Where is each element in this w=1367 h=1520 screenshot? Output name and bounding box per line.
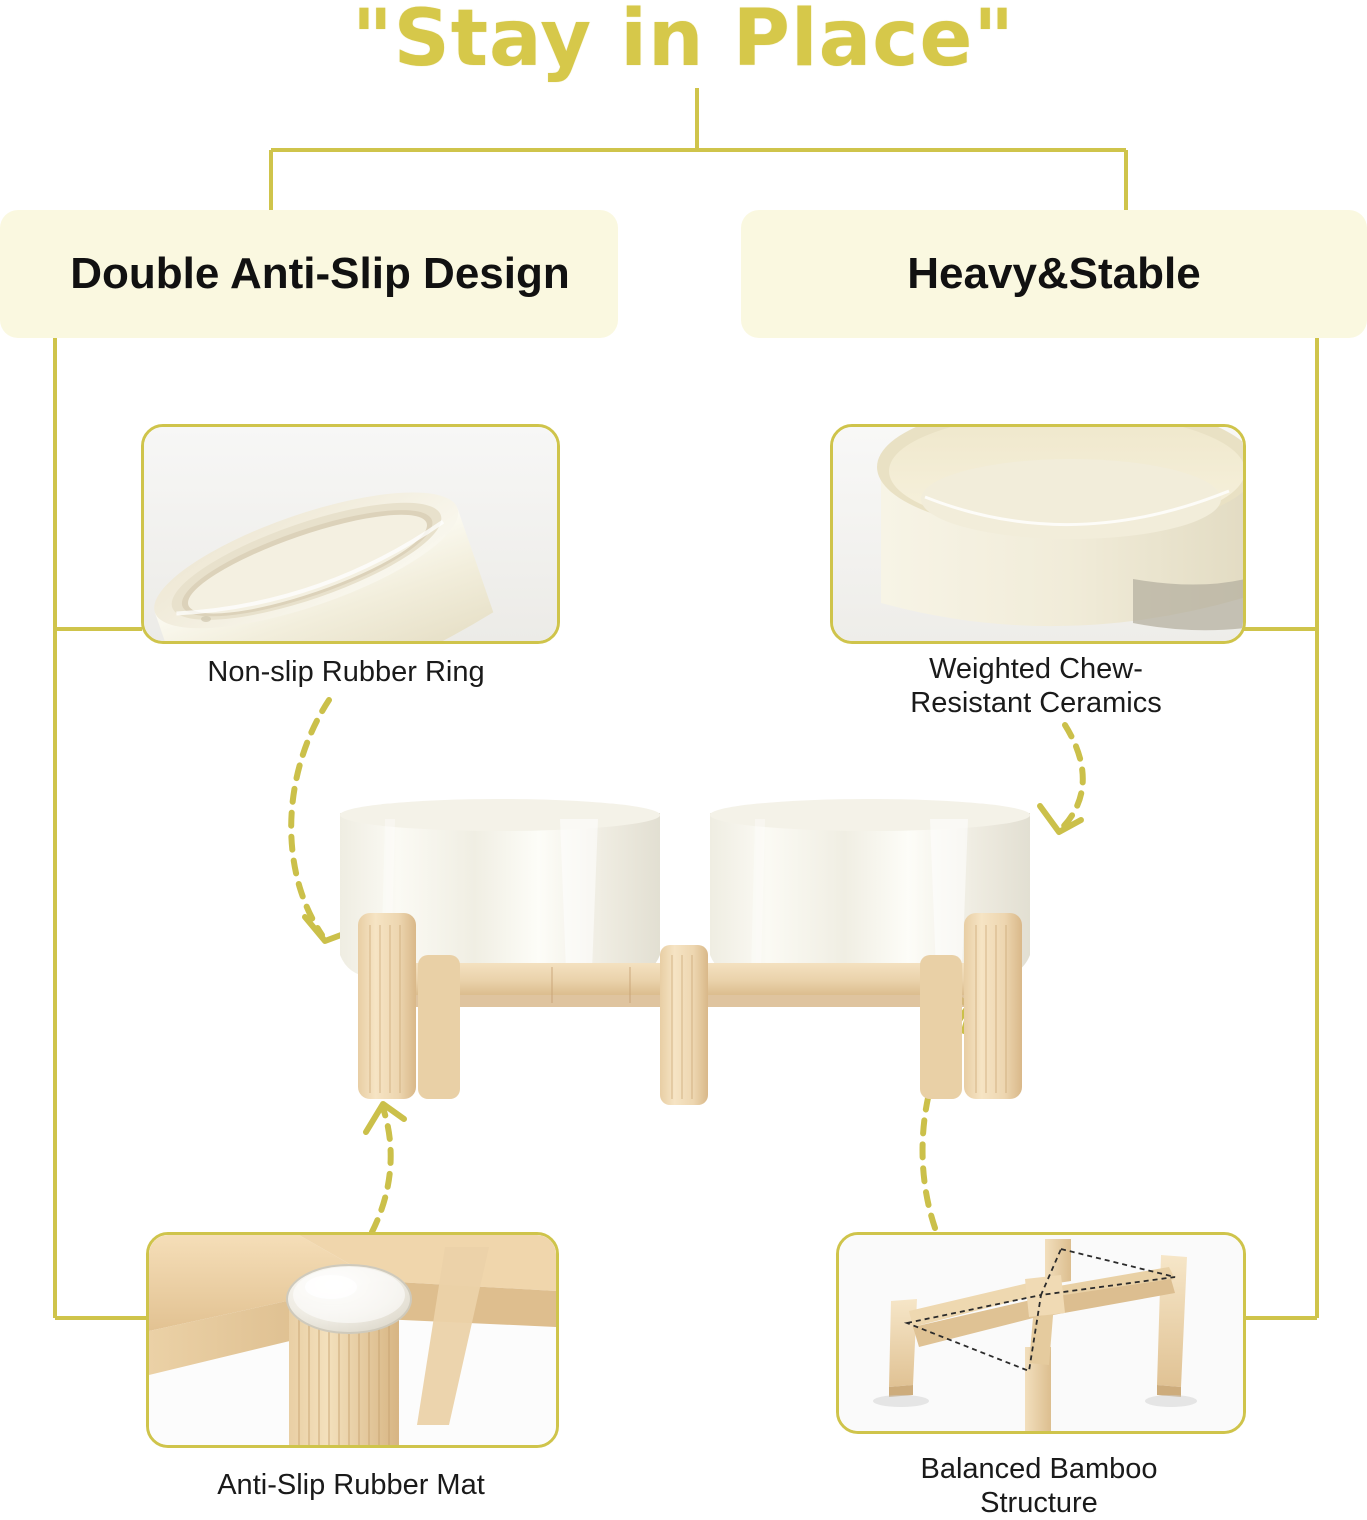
caption-balanced-bamboo-structure: Balanced Bamboo Structure [846,1452,1232,1520]
header-pill-right: Heavy&Stable [741,210,1367,338]
arrow-to-stand-leg-path [372,1108,391,1232]
header-left-label: Double Anti-Slip Design [48,249,569,299]
header-pill-left: Double Anti-Slip Design [0,210,618,338]
arrow-to-bowl-underside-path [291,700,329,935]
caption-line-1: Weighted Chew- [929,653,1143,685]
caption-line-2: Resistant Ceramics [910,687,1161,719]
photo-frame-weighted-ceramics [830,424,1246,644]
caption-line-1: Balanced Bamboo [921,1453,1158,1485]
arrow-to-bowl-body-path [1063,725,1083,827]
arrowhead-bowl-body [1040,806,1081,832]
photo-non-slip-rubber-ring [144,427,557,641]
photo-anti-slip-rubber-mat [149,1235,556,1445]
photo-weighted-chew-resistant-ceramics [833,427,1243,641]
caption-line-2: Structure [980,1487,1098,1519]
caption-non-slip-rubber-ring: Non-slip Rubber Ring [131,655,561,689]
photo-frame-balanced-bamboo-structure [836,1232,1246,1434]
photo-balanced-bamboo-structure [839,1235,1243,1431]
header-right-label: Heavy&Stable [907,249,1200,299]
product-image-elevated-double-bowls [330,795,1040,1105]
photo-frame-non-slip-rubber-ring [141,424,560,644]
caption-anti-slip-rubber-mat: Anti-Slip Rubber Mat [136,1468,566,1502]
photo-frame-anti-slip-rubber-mat [146,1232,559,1448]
caption-weighted-ceramics: Weighted Chew- Resistant Ceramics [840,652,1232,720]
